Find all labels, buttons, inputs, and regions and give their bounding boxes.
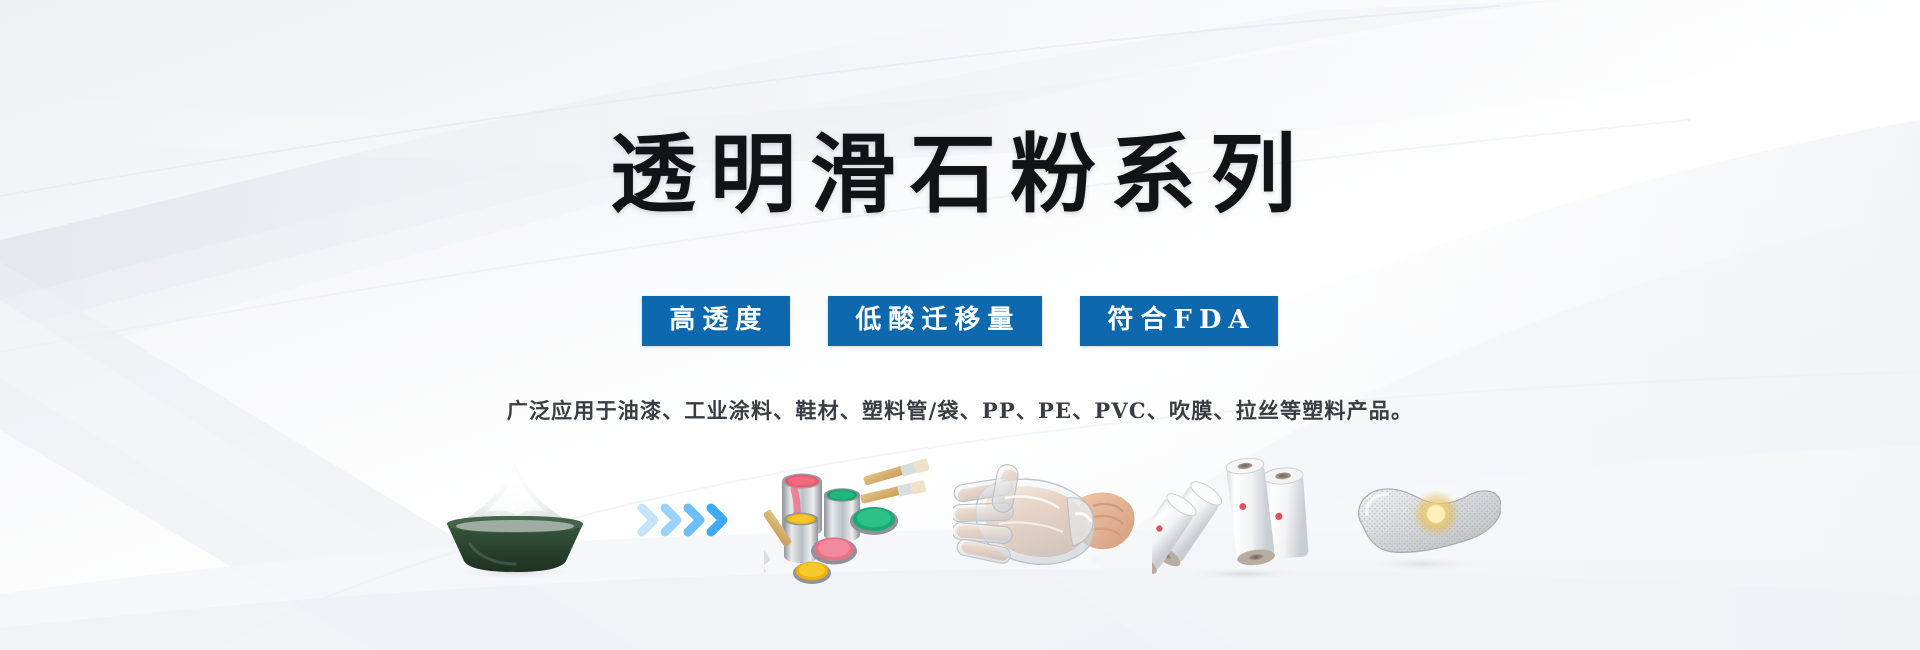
- product-image-strip: [0, 430, 1920, 610]
- feature-badge-low-acid-migration: 低酸迁移量: [828, 296, 1042, 346]
- process-arrows-icon: [632, 490, 742, 550]
- product-banner: 透明滑石粉系列 高透度 低酸迁移量 符合FDA 广泛应用于油漆、工业涂料、鞋材、…: [0, 0, 1920, 650]
- feature-badge-fda-compliant: 符合FDA: [1080, 296, 1277, 346]
- talc-powder-bowl-image: [420, 460, 610, 580]
- banner-content: 透明滑石粉系列 高透度 低酸迁移量 符合FDA 广泛应用于油漆、工业涂料、鞋材、…: [0, 0, 1920, 650]
- page-title: 透明滑石粉系列: [0, 132, 1920, 218]
- shoe-insole-image: [1341, 460, 1501, 580]
- feature-badge-group: 高透度 低酸迁移量 符合FDA: [0, 296, 1920, 346]
- plastic-film-rolls-image: [1152, 458, 1327, 583]
- plastic-glove-hand-image: [953, 458, 1138, 583]
- feature-badge-high-transparency: 高透度: [642, 296, 790, 346]
- application-description: 广泛应用于油漆、工业涂料、鞋材、塑料管/袋、PP、PE、PVC、吹膜、拉丝等塑料…: [0, 395, 1920, 425]
- paint-cans-image: [764, 455, 939, 585]
